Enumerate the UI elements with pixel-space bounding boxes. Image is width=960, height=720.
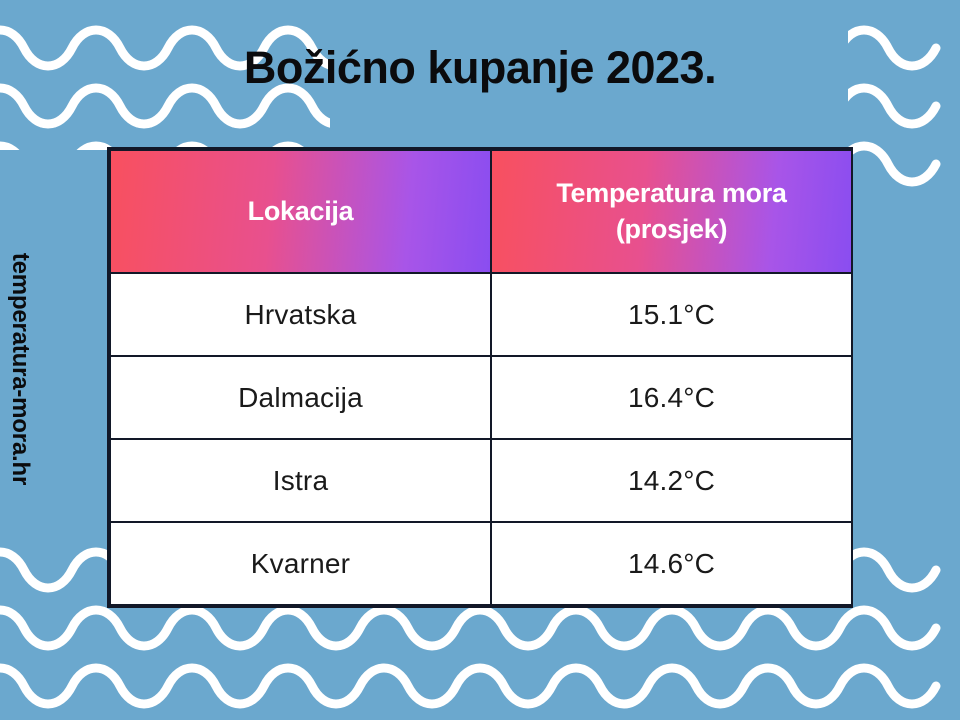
column-header-location: Lokacija <box>110 150 491 273</box>
column-header-location-label: Lokacija <box>248 196 354 226</box>
sea-temperature-table: Lokacija Temperatura mora (prosjek) Hrva… <box>107 147 853 608</box>
cell-location: Dalmacija <box>110 356 491 439</box>
poster-canvas: Božićno kupanje 2023. temperatura-mora.h… <box>0 0 960 720</box>
column-header-temperature-sublabel: (prosjek) <box>502 212 841 248</box>
table-header-row: Lokacija Temperatura mora (prosjek) <box>110 150 852 273</box>
cell-temperature: 14.6°C <box>491 522 852 605</box>
table-row: Kvarner 14.6°C <box>110 522 852 605</box>
cell-temperature: 14.2°C <box>491 439 852 522</box>
cell-temperature: 15.1°C <box>491 273 852 356</box>
table-row: Hrvatska 15.1°C <box>110 273 852 356</box>
cell-location: Hrvatska <box>110 273 491 356</box>
column-header-temperature-label: Temperatura mora <box>556 178 786 208</box>
table-row: Istra 14.2°C <box>110 439 852 522</box>
site-watermark: temperatura-mora.hr <box>6 204 34 534</box>
cell-location: Kvarner <box>110 522 491 605</box>
cell-location: Istra <box>110 439 491 522</box>
column-header-temperature: Temperatura mora (prosjek) <box>491 150 852 273</box>
table-row: Dalmacija 16.4°C <box>110 356 852 439</box>
table: Lokacija Temperatura mora (prosjek) Hrva… <box>109 149 853 606</box>
cell-temperature: 16.4°C <box>491 356 852 439</box>
page-title: Božićno kupanje 2023. <box>0 42 960 94</box>
